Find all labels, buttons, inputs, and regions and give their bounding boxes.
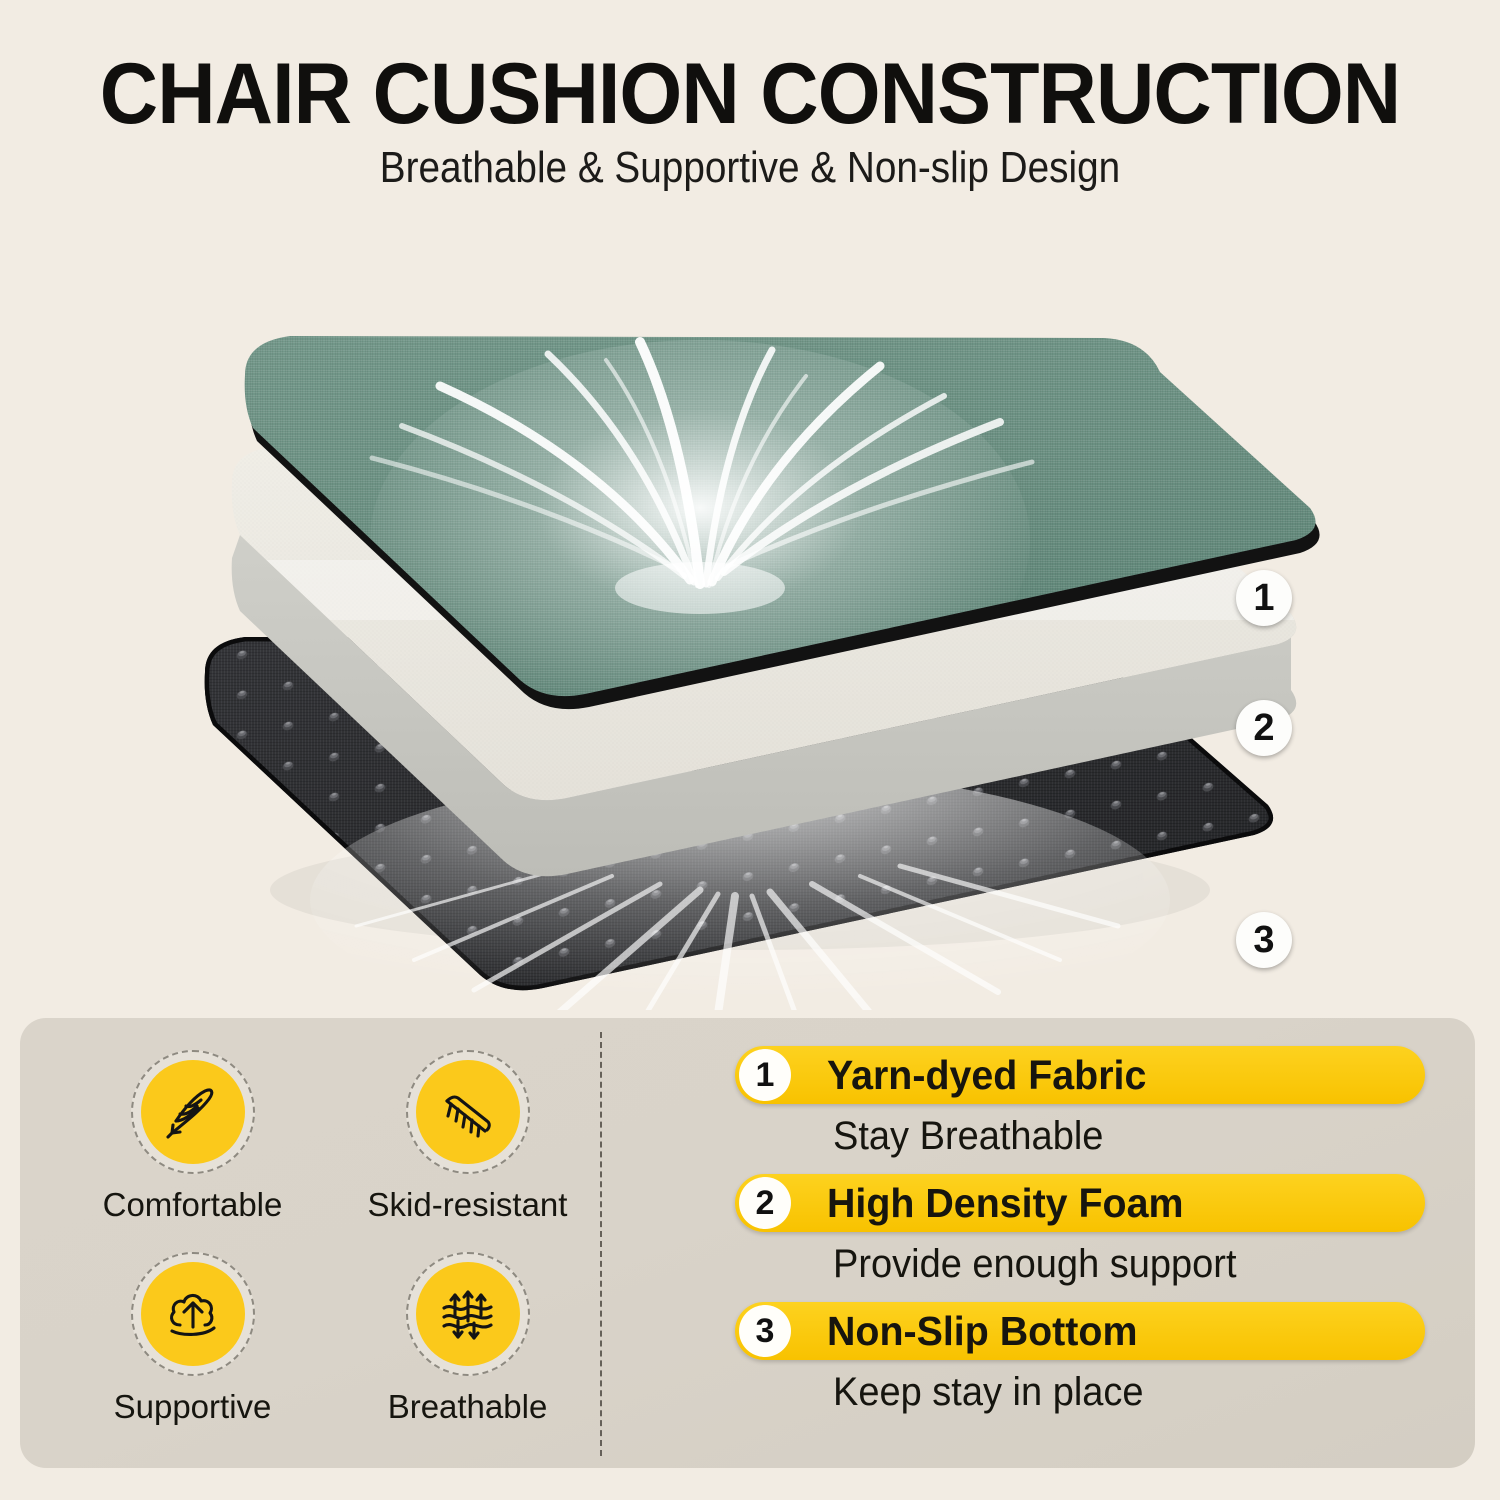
feature-breathable: Breathable bbox=[345, 1252, 590, 1450]
infographic-root: CHAIR CUSHION CONSTRUCTION Breathable & … bbox=[0, 0, 1500, 1500]
panel-divider bbox=[600, 1032, 602, 1456]
benefit-number-badge: 1 bbox=[739, 1049, 791, 1101]
icon-ring bbox=[131, 1050, 255, 1174]
callout-badge-3: 3 bbox=[1236, 912, 1292, 968]
feature-supportive: Supportive bbox=[70, 1252, 315, 1450]
benefit-item-3: 3 Non-Slip Bottom Keep stay in place bbox=[735, 1302, 1425, 1416]
benefit-title: Non-Slip Bottom bbox=[827, 1308, 1137, 1354]
icon-ring bbox=[406, 1050, 530, 1174]
benefit-number-badge: 3 bbox=[739, 1305, 791, 1357]
brush-bristles-icon bbox=[435, 1079, 501, 1145]
benefit-title: High Density Foam bbox=[827, 1180, 1183, 1226]
feature-label: Breathable bbox=[388, 1388, 548, 1426]
icon-ring bbox=[131, 1252, 255, 1376]
icon-disc bbox=[141, 1262, 245, 1366]
benefit-number-badge: 2 bbox=[739, 1177, 791, 1229]
benefit-description: Keep stay in place bbox=[833, 1368, 1395, 1416]
benefit-item-1: 1 Yarn-dyed Fabric Stay Breathable bbox=[735, 1046, 1425, 1160]
callout-badge-2: 2 bbox=[1236, 700, 1292, 756]
cloud-up-arrow-icon bbox=[160, 1281, 226, 1347]
benefit-pill: 1 Yarn-dyed Fabric bbox=[735, 1046, 1425, 1104]
feather-icon bbox=[160, 1079, 226, 1145]
feature-label: Supportive bbox=[114, 1388, 272, 1426]
benefit-pill: 3 Non-Slip Bottom bbox=[735, 1302, 1425, 1360]
icon-disc bbox=[416, 1262, 520, 1366]
airflow-waves-icon bbox=[435, 1281, 501, 1347]
benefit-description: Stay Breathable bbox=[833, 1112, 1395, 1160]
page-subtitle: Breathable & Supportive & Non-slip Desig… bbox=[90, 142, 1410, 194]
benefit-item-2: 2 High Density Foam Provide enough suppo… bbox=[735, 1174, 1425, 1288]
benefit-pill: 2 High Density Foam bbox=[735, 1174, 1425, 1232]
benefits-list: 1 Yarn-dyed Fabric Stay Breathable 2 Hig… bbox=[735, 1046, 1425, 1416]
benefit-description: Provide enough support bbox=[833, 1240, 1395, 1288]
feature-label: Comfortable bbox=[103, 1186, 283, 1224]
feature-comfortable: Comfortable bbox=[70, 1050, 315, 1248]
icon-disc bbox=[141, 1060, 245, 1164]
feature-skid-resistant: Skid-resistant bbox=[345, 1050, 590, 1248]
exploded-cushion-illustration: 1 2 3 bbox=[0, 200, 1500, 1010]
feature-label: Skid-resistant bbox=[368, 1186, 568, 1224]
feature-grid: Comfortable bbox=[70, 1050, 590, 1450]
callout-badge-1: 1 bbox=[1236, 570, 1292, 626]
icon-ring bbox=[406, 1252, 530, 1376]
icon-disc bbox=[416, 1060, 520, 1164]
benefit-title: Yarn-dyed Fabric bbox=[827, 1052, 1146, 1098]
page-title: CHAIR CUSHION CONSTRUCTION bbox=[45, 48, 1455, 140]
